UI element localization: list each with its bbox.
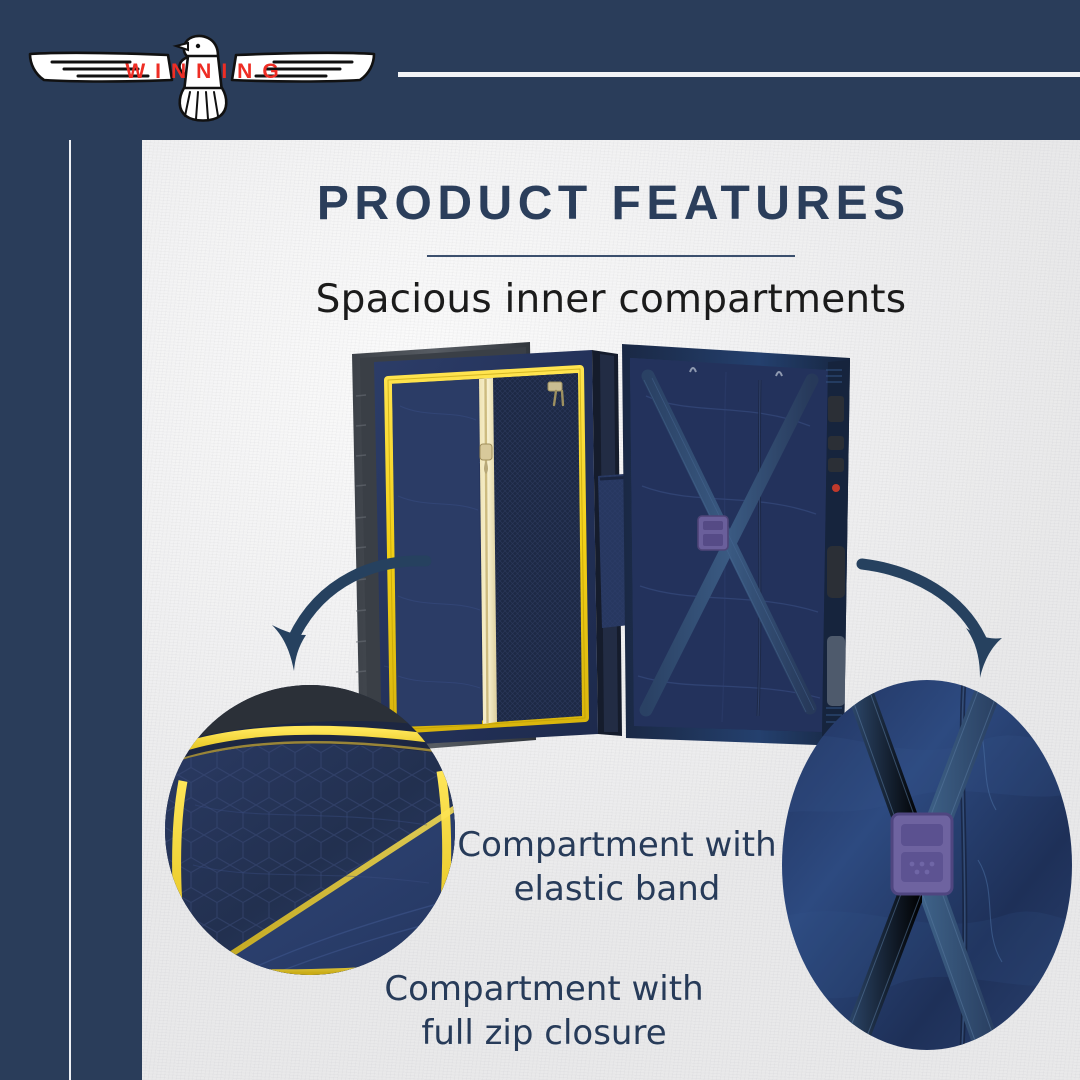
brand-logo: WINNING <box>22 22 382 122</box>
infographic-canvas: WINNING PRODUCT FEATURES Spacious inner … <box>0 0 1080 1080</box>
page-subtitle: Spacious inner compartments <box>142 277 1080 322</box>
heading-block: PRODUCT FEATURES Spacious inner compartm… <box>142 178 1080 322</box>
eagle-logo-icon <box>22 22 382 122</box>
curved-arrow-down-right-icon <box>860 560 1020 685</box>
caption-elastic-band: Compartment with elastic band <box>442 824 792 911</box>
caption-full-zip: Compartment with full zip closure <box>364 968 724 1055</box>
page-title: PRODUCT FEATURES <box>142 178 1080 231</box>
title-divider <box>427 255 795 257</box>
content-panel: PRODUCT FEATURES Spacious inner compartm… <box>142 140 1080 1080</box>
inset-elastic-strap <box>782 680 1072 1050</box>
horizontal-accent-line <box>398 72 1080 77</box>
hero-suitcase-image <box>330 336 870 761</box>
vertical-accent-line <box>69 140 71 1080</box>
inset-zip-compartment <box>165 685 455 975</box>
curved-arrow-down-left-icon <box>250 555 430 685</box>
